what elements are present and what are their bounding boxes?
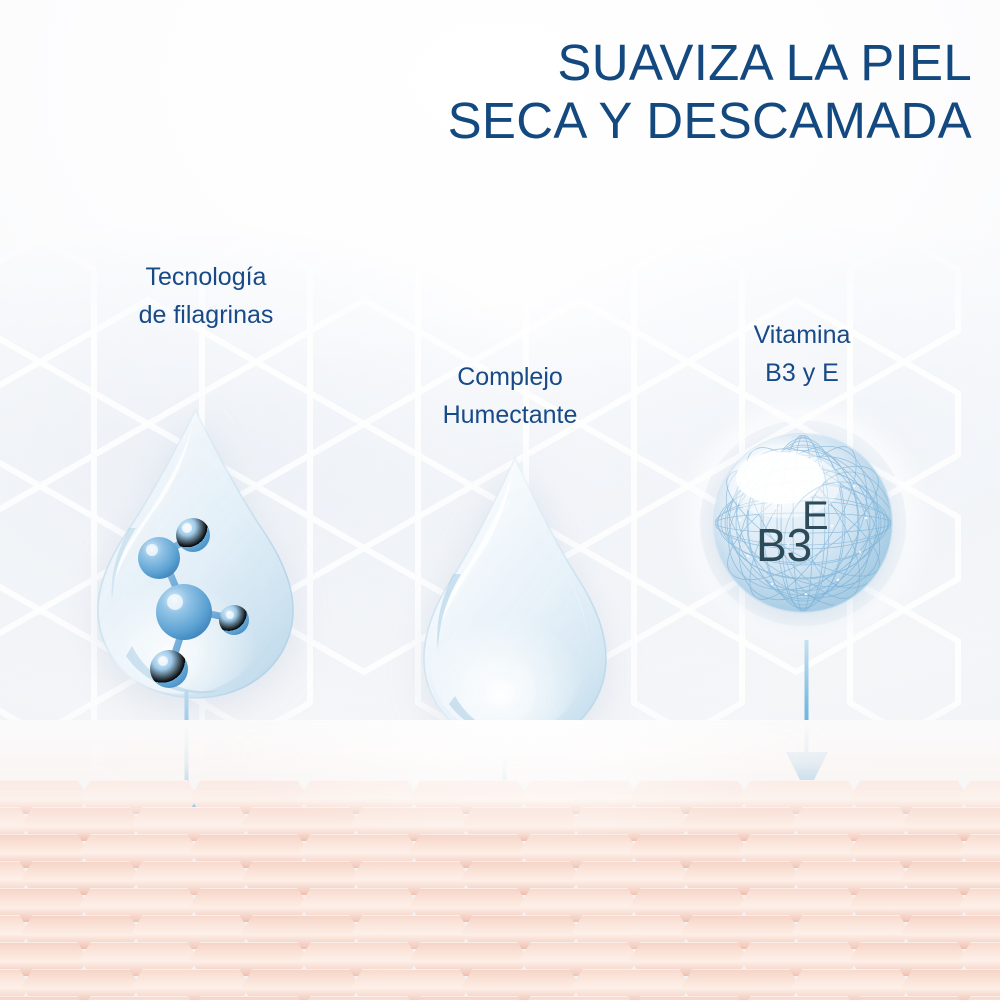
skin-cell [410,996,528,1000]
mesh-sphere-vitaminas: E B3 [714,434,892,612]
skin-cell-row [0,996,1000,1000]
skin-cell [520,996,638,1000]
skin-cell [630,996,748,1000]
ingredient-caption-vitaminas: Vitamina B3 y E [692,316,912,392]
caption-vitaminas-line-1: Vitamina [692,316,912,354]
skin-cell [80,996,198,1000]
headline-line-1: SUAVIZA LA PIEL [0,34,972,92]
skin-cell [850,996,968,1000]
promo-graphic: SUAVIZA LA PIEL SECA Y DESCAMADA Tecnolo… [0,0,1000,1000]
caption-humectante-line-1: Complejo [390,358,630,396]
skin-cell [190,996,308,1000]
page-title: SUAVIZA LA PIEL SECA Y DESCAMADA [0,34,972,149]
skin-cell [960,996,1000,1000]
sphere-label-vitamin-b3: B3 [756,522,812,568]
caption-filagrinas-line-2: de filagrinas [78,296,334,334]
headline-line-2: SECA Y DESCAMADA [0,92,972,150]
caption-vitaminas-line-2: B3 y E [692,354,912,392]
caption-filagrinas-line-1: Tecnología [78,258,334,296]
skin-cell [0,996,88,1000]
ingredient-caption-filagrinas: Tecnología de filagrinas [78,258,334,334]
ingredient-caption-humectante: Complejo Humectante [390,358,630,434]
water-drop-humectante-icon [415,452,615,752]
water-drop-filagrinas-icon [88,404,303,704]
skin-cell [300,996,418,1000]
skin-cell [740,996,858,1000]
caption-humectante-line-2: Humectante [390,396,630,434]
